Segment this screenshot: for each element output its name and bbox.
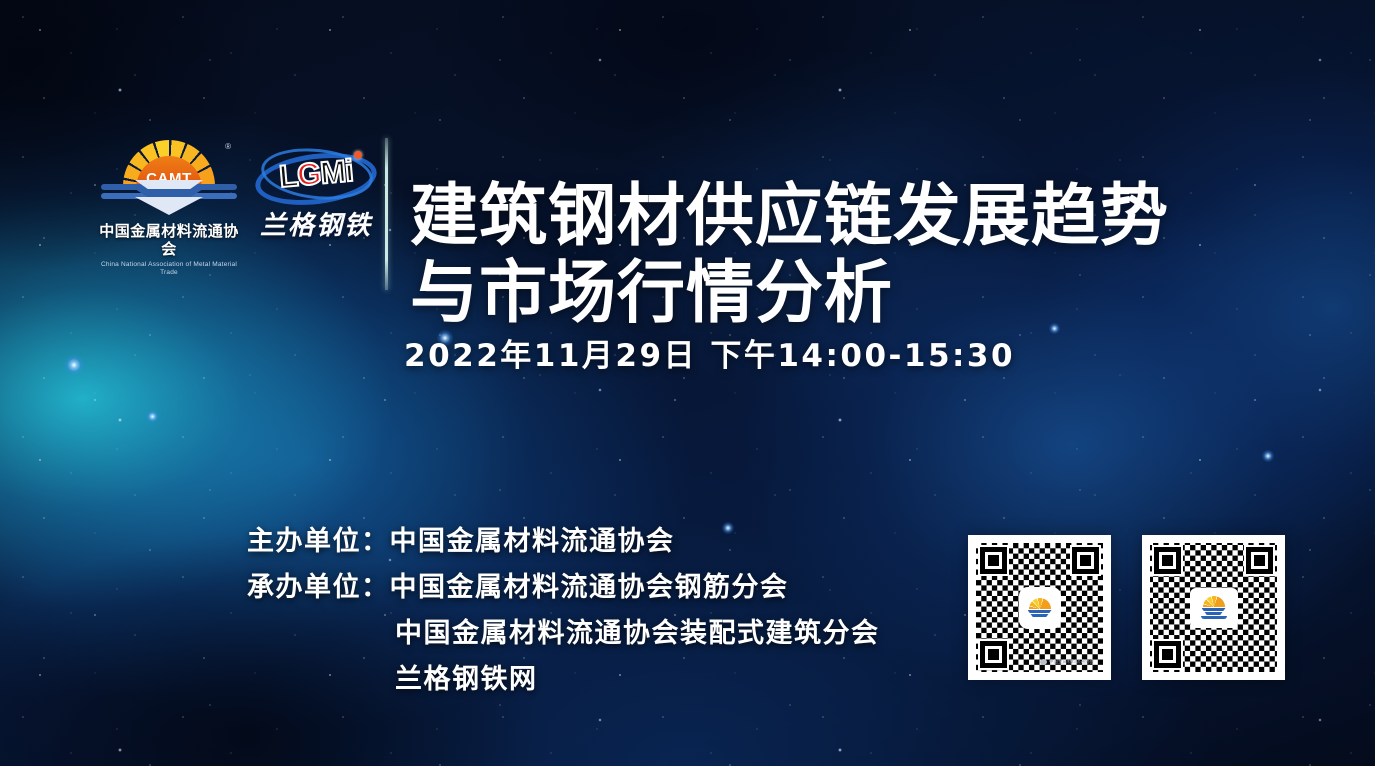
logo-group: CAMT ® 中国金属材料流通协会 China National Associa… (95, 140, 381, 277)
organizer-line-coorganizer-2: 中国金属材料流通协会装配式建筑分会 (247, 611, 880, 657)
organizer-block: 主办单位：中国金属材料流通协会 承办单位：中国金属材料流通协会钢筋分会 中国金属… (247, 519, 880, 703)
lgmi-dot-icon (354, 151, 362, 159)
camt-name-cn: 中国金属材料流通协会 (95, 223, 243, 259)
event-poster: CAMT ® 中国金属材料流通协会 China National Associa… (0, 0, 1375, 766)
qr-logo-sun-icon (1029, 598, 1051, 609)
wings-icon (101, 180, 237, 220)
organizer-line-coorganizer-1: 承办单位：中国金属材料流通协会钢筋分会 (247, 565, 880, 611)
poster-header: CAMT ® 中国金属材料流通协会 China National Associa… (0, 118, 1375, 298)
qr-logo-wing-icon (1202, 608, 1226, 615)
qr-finder-top-left (978, 545, 1009, 576)
qr-finder-top-right (1244, 545, 1275, 576)
lgmi-emblem-icon: LGMi (255, 146, 377, 210)
camt-emblem-icon: CAMT ® (101, 140, 237, 220)
page-title: 建筑钢材供应链发展趋势 与市场行情分析 (410, 178, 1240, 333)
title-line-2: 与市场行情分析 (410, 255, 1240, 333)
qr-watermark-left: 中国金属材料流通协会 (1040, 659, 1094, 665)
qr-finder-top-right (1070, 545, 1101, 576)
wechat-icon (1040, 659, 1047, 665)
qr-logo-base-icon (1201, 616, 1227, 619)
qr-logo-sun-icon (1203, 596, 1225, 607)
qr-center-logo-icon (1192, 590, 1236, 626)
qr-finder-top-left (1152, 545, 1183, 576)
organizer-line-host: 主办单位：中国金属材料流通协会 (247, 519, 880, 565)
qr-code-card-left[interactable]: 中国金属材料流通协会 (968, 535, 1111, 680)
qr-watermark-text: 中国金属材料流通协会 (1049, 660, 1094, 665)
qr-code-left[interactable]: 中国金属材料流通协会 (968, 535, 1111, 680)
qr-logo-wing-icon (1028, 610, 1052, 617)
qr-finder-bottom-left (978, 639, 1009, 670)
qr-center-logo-icon (1021, 589, 1059, 627)
title-divider (385, 138, 388, 290)
lgmi-name-cn: 兰格钢铁 (251, 212, 381, 241)
lgmi-letter-g: G (296, 156, 322, 193)
qr-code-card-right[interactable] (1142, 535, 1285, 680)
organizer-label-coorganizer: 承办单位： (247, 572, 390, 603)
camt-name-en: China National Association of Metal Mate… (95, 261, 243, 277)
lgmi-letter-i: i (343, 153, 354, 189)
organizer-value-host: 中国金属材料流通协会 (390, 526, 675, 557)
organizer-value-coorganizer-1: 中国金属材料流通协会钢筋分会 (390, 572, 789, 603)
qr-matrix-right (1150, 543, 1277, 672)
camt-logo: CAMT ® 中国金属材料流通协会 China National Associa… (95, 140, 243, 277)
lgmi-letter-m: M (319, 154, 347, 191)
organizer-value-coorganizer-3: 兰格钢铁网 (395, 664, 538, 695)
title-line-1: 建筑钢材供应链发展趋势 (410, 177, 1169, 256)
qr-code-right[interactable] (1142, 535, 1285, 680)
organizer-label-host: 主办单位： (247, 526, 390, 557)
registered-mark-icon: ® (225, 142, 231, 151)
lgmi-logo: LGMi 兰格钢铁 (251, 140, 381, 241)
organizer-value-coorganizer-2: 中国金属材料流通协会装配式建筑分会 (395, 618, 880, 649)
qr-matrix-left: 中国金属材料流通协会 (976, 543, 1103, 672)
event-datetime: 2022年11月29日 下午14:00-15:30 (404, 330, 1015, 375)
chevron-inner (135, 197, 203, 215)
organizer-line-coorganizer-3: 兰格钢铁网 (247, 657, 880, 703)
qr-finder-bottom-left (1152, 639, 1183, 670)
